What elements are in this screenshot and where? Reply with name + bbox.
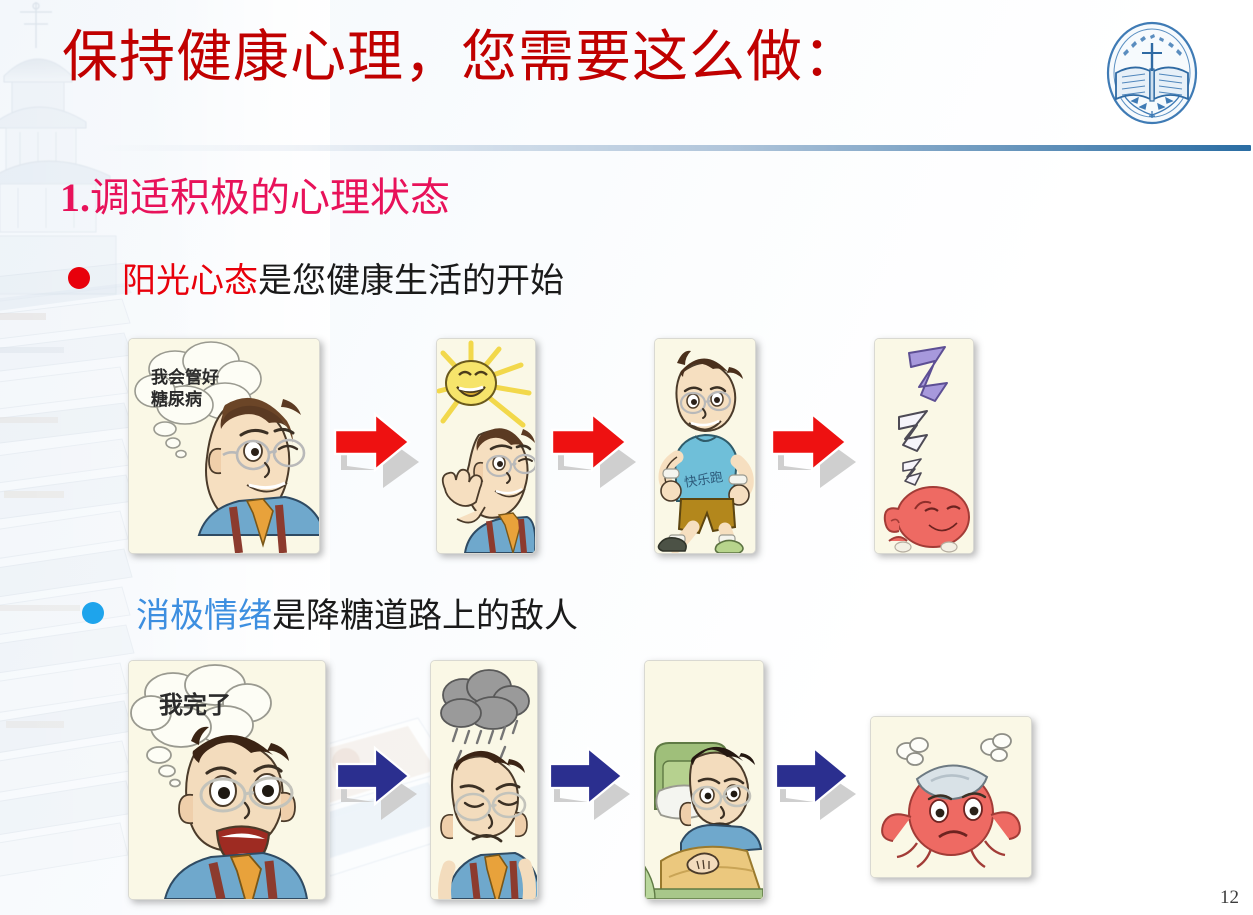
negative-sequence-row: 我完了 xyxy=(128,660,1032,900)
arrow-right-red-2 xyxy=(536,339,654,553)
blue-arrow-icon xyxy=(772,736,862,824)
bullet-highlight-positive: 阳光心态 xyxy=(122,263,258,300)
sleeping-cell-illustration xyxy=(875,339,973,553)
red-arrow-icon xyxy=(331,400,425,492)
slide-title: 保持健康心理，您需要这么做： xyxy=(62,27,860,90)
blue-arrow-icon xyxy=(546,736,636,824)
card-sunny-mood xyxy=(436,338,536,554)
bullet-highlight-negative: 消极情绪 xyxy=(136,598,272,635)
bullet-dot-blue-icon xyxy=(82,602,104,624)
running-man-illustration: 快乐跑 xyxy=(655,339,755,553)
arrow-right-red-3 xyxy=(756,339,874,553)
page-number: 12 xyxy=(1220,887,1239,909)
section-heading: 1.调适积极的心理状态 xyxy=(60,175,450,221)
arrow-right-blue-1 xyxy=(326,661,430,899)
card-sleeping-cell xyxy=(874,338,974,554)
card-despair-man: 我完了 xyxy=(128,660,326,900)
card-running-man: 快乐跑 xyxy=(654,338,756,554)
books-watermark-image xyxy=(0,255,136,915)
sunny-mood-illustration xyxy=(437,339,535,553)
thought-line-1: 我会管好 xyxy=(151,367,219,388)
blue-arrow-icon xyxy=(333,736,423,824)
despair-man-illustration: 我完了 xyxy=(129,661,325,899)
card-raincloud-man xyxy=(430,660,538,900)
bullet-item-negative: 消极情绪是降糖道路上的敌人 xyxy=(82,588,578,637)
bedridden-man-illustration xyxy=(645,661,763,899)
bullet-dot-red-icon xyxy=(68,267,90,289)
arrow-right-red-1 xyxy=(320,339,436,553)
bullet-rest-negative: 是降糖道路上的敌人 xyxy=(272,598,578,635)
arrow-right-blue-2 xyxy=(538,661,644,899)
card-sick-cell xyxy=(870,716,1032,878)
positive-sequence-row: 我会管好 糖尿病 xyxy=(128,338,974,554)
sick-cell-illustration xyxy=(871,717,1031,877)
section-heading-text: 调适积极的心理状态 xyxy=(90,175,450,220)
arrow-right-blue-3 xyxy=(764,661,870,899)
header-divider xyxy=(96,145,1251,151)
card-bedridden-man xyxy=(644,660,764,900)
school-emblem-logo-icon xyxy=(1092,17,1212,130)
slide-canvas: 保持健康心理，您需要这么做： xyxy=(0,0,1253,915)
thought-text-despair: 我完了 xyxy=(159,691,231,719)
bullet-text-negative: 消极情绪是降糖道路上的敌人 xyxy=(136,588,578,637)
raincloud-man-illustration xyxy=(431,661,537,899)
red-arrow-icon xyxy=(768,400,862,492)
bullet-item-positive: 阳光心态是您健康生活的开始 xyxy=(68,253,564,302)
thinking-man-illustration: 我会管好 糖尿病 xyxy=(129,339,319,553)
section-number: 1. xyxy=(60,175,90,220)
card-thinking-man: 我会管好 糖尿病 xyxy=(128,338,320,554)
bullet-rest-positive: 是您健康生活的开始 xyxy=(258,263,564,300)
thought-line-2: 糖尿病 xyxy=(151,389,202,410)
bullet-text-positive: 阳光心态是您健康生活的开始 xyxy=(122,253,564,302)
red-arrow-icon xyxy=(548,400,642,492)
